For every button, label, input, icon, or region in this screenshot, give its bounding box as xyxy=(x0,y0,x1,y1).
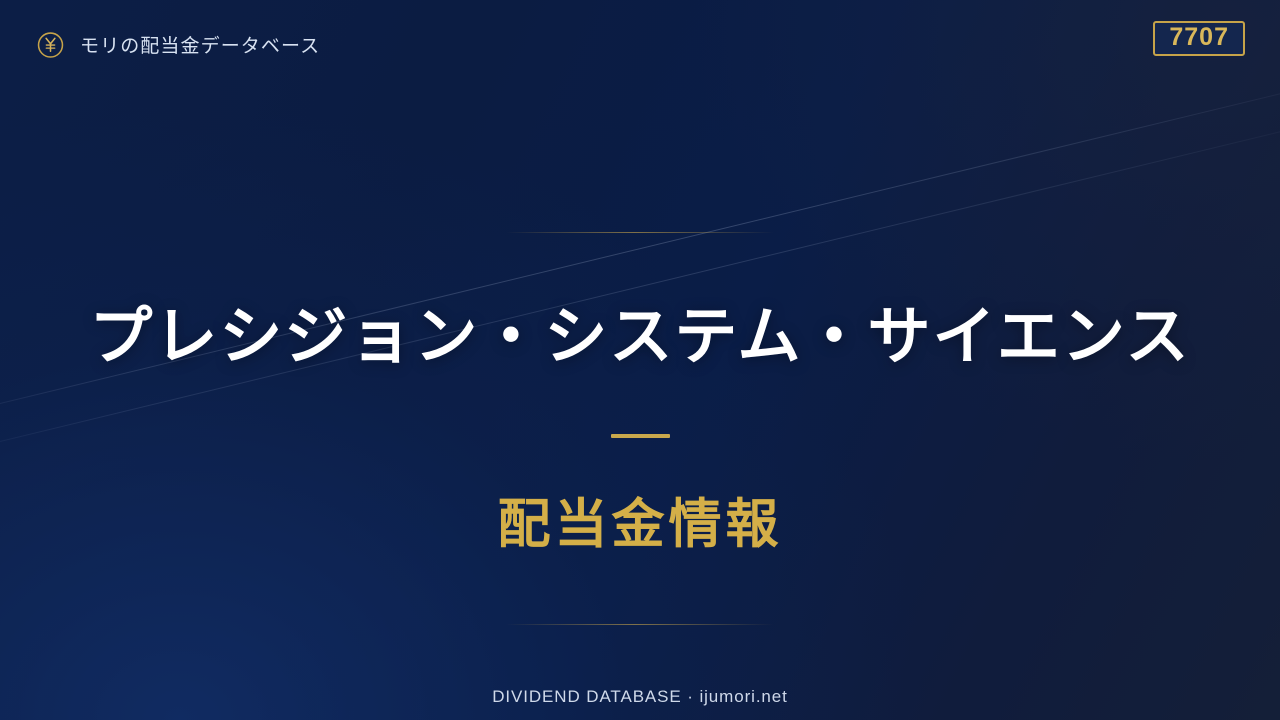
gold-accent-dash xyxy=(611,434,670,438)
page-footer: DIVIDEND DATABASE · ijumori.net xyxy=(0,687,1280,707)
title-block: プレシジョン・システム・サイエンス 配当金情報 xyxy=(0,232,1280,625)
brand-name: モリの配当金データベース xyxy=(80,31,320,58)
divider-bottom xyxy=(506,624,774,625)
company-title: プレシジョン・システム・サイエンス xyxy=(89,302,1190,373)
footer-text: DIVIDEND DATABASE · ijumori.net xyxy=(492,687,788,706)
title-slide: モリの配当金データベース 7707 プレシジョン・システム・サイエンス 配当金情… xyxy=(0,0,1280,720)
yen-circle-icon xyxy=(36,30,65,59)
divider-top xyxy=(506,232,774,233)
ticker-code-badge: 7707 xyxy=(1153,21,1245,56)
brand[interactable]: モリの配当金データベース xyxy=(36,30,320,59)
subtitle: 配当金情報 xyxy=(498,496,783,554)
page-header: モリの配当金データベース xyxy=(0,0,1280,88)
